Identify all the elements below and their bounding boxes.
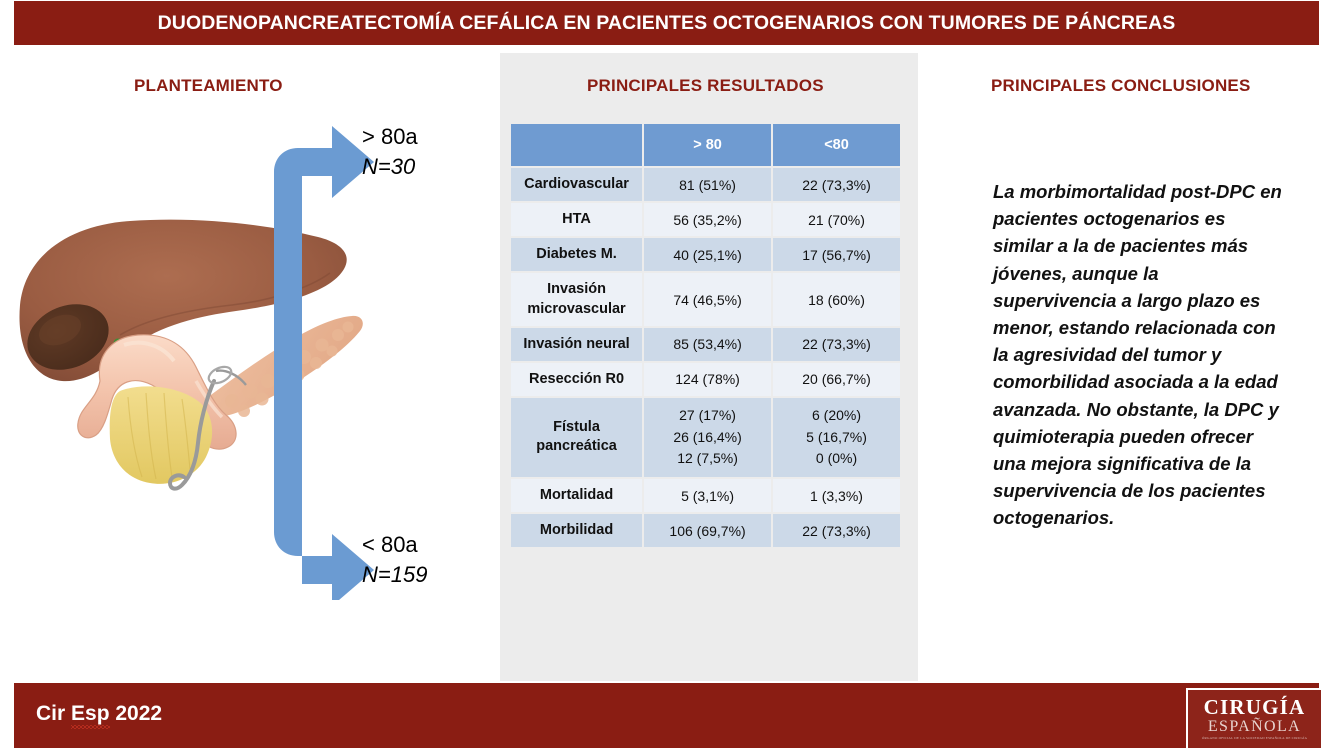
row-label: Fístula pancreática [511,398,642,477]
section-heading-resultados: PRINCIPALES RESULTADOS [587,76,824,96]
table-row: Morbilidad 106 (69,7%) 22 (73,3%) [511,514,900,547]
conclusions-text: La morbimortalidad post-DPC en pacientes… [993,178,1285,531]
page-title: DUODENOPANCREATECTOMÍA CEFÁLICA EN PACIE… [158,12,1176,35]
cell-under-80: 22 (73,3%) [773,168,900,201]
logo-line-espanola: ESPAÑOLA [1208,718,1301,736]
mesentery-fat-shape [110,386,212,483]
logo-line-cirugia: CIRUGÍA [1204,697,1306,718]
table-header-under-80: <80 [773,124,900,166]
row-label: HTA [511,203,642,236]
results-table: > 80 <80 Cardiovascular 81 (51%) 22 (73,… [509,122,902,549]
cell-over-80: 40 (25,1%) [644,238,771,271]
cell-over-80: 81 (51%) [644,168,771,201]
logo-line-subtitle: ÓRGANO OFICIAL DE LA SOCIEDAD ESPAÑOLA D… [1202,736,1307,740]
cell-under-80: 21 (70%) [773,203,900,236]
cell-over-80: 56 (35,2%) [644,203,771,236]
arrow-under-80 [274,350,374,600]
section-heading-conclusiones: PRINCIPALES CONCLUSIONES [991,76,1251,96]
cell-over-80: 124 (78%) [644,363,771,396]
section-heading-planteamiento: PLANTEAMIENTO [134,76,283,96]
citation-misspelled-word: Esp [71,702,110,726]
footer-citation: Cir Esp 2022 [36,702,162,726]
table-header-corner [511,124,642,166]
row-label: Invasión neural [511,328,642,361]
branch-n-over-80: N=30 [362,152,418,182]
table-row: Diabetes M. 40 (25,1%) 17 (56,7%) [511,238,900,271]
table-row: Invasión neural 85 (53,4%) 22 (73,3%) [511,328,900,361]
branch-label-under-80: < 80a N=159 [362,530,427,591]
cell-under-80: 22 (73,3%) [773,328,900,361]
cell-under-80: 20 (66,7%) [773,363,900,396]
table-header-row: > 80 <80 [511,124,900,166]
branch-n-under-80: N=159 [362,560,427,590]
cell-under-80: 18 (60%) [773,273,900,325]
table-header-over-80: > 80 [644,124,771,166]
citation-prefix: Cir [36,702,71,725]
cell-under-80: 17 (56,7%) [773,238,900,271]
table-row: Resección R0 124 (78%) 20 (66,7%) [511,363,900,396]
row-label: Morbilidad [511,514,642,547]
citation-suffix: 2022 [110,702,163,725]
cell-over-80: 5 (3,1%) [644,479,771,512]
footer-bar [14,683,1319,748]
row-label: Invasión microvascular [511,273,642,325]
table-row: Mortalidad 5 (3,1%) 1 (3,3%) [511,479,900,512]
branch-label-over-80: > 80a N=30 [362,122,418,183]
table-row: Fístula pancreática 27 (17%)26 (16,4%)12… [511,398,900,477]
title-bar: DUODENOPANCREATECTOMÍA CEFÁLICA EN PACIE… [14,1,1319,45]
cell-under-80: 6 (20%)5 (16,7%)0 (0%) [773,398,900,477]
row-label: Mortalidad [511,479,642,512]
row-label: Diabetes M. [511,238,642,271]
cell-over-80: 27 (17%)26 (16,4%)12 (7,5%) [644,398,771,477]
table-row: Cardiovascular 81 (51%) 22 (73,3%) [511,168,900,201]
slide-root: DUODENOPANCREATECTOMÍA CEFÁLICA EN PACIE… [0,0,1333,749]
branch-age-under-80: < 80a [362,530,427,560]
journal-logo: CIRUGÍA ESPAÑOLA ÓRGANO OFICIAL DE LA SO… [1186,688,1323,750]
branch-age-over-80: > 80a [362,122,418,152]
table-row: HTA 56 (35,2%) 21 (70%) [511,203,900,236]
cell-over-80: 106 (69,7%) [644,514,771,547]
arrow-over-80 [274,126,374,350]
cell-under-80: 1 (3,3%) [773,479,900,512]
cell-over-80: 74 (46,5%) [644,273,771,325]
row-label: Cardiovascular [511,168,642,201]
cell-over-80: 85 (53,4%) [644,328,771,361]
table-row: Invasión microvascular 74 (46,5%) 18 (60… [511,273,900,325]
cell-under-80: 22 (73,3%) [773,514,900,547]
row-label: Resección R0 [511,363,642,396]
